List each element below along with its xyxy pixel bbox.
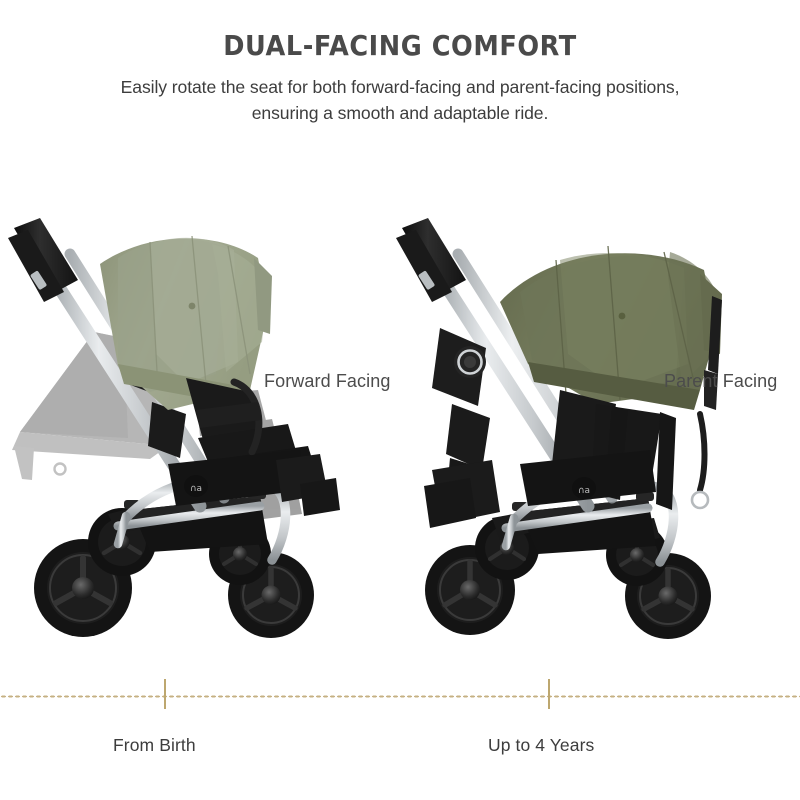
header: DUAL-FACING COMFORT Easily rotate the se… bbox=[0, 0, 800, 126]
brand-badge-left: ∩a bbox=[184, 475, 208, 497]
infographic-page: DUAL-FACING COMFORT Easily rotate the se… bbox=[0, 0, 800, 800]
timeline-tick-start bbox=[164, 679, 166, 709]
stroller-parent-facing: ∩a bbox=[396, 218, 722, 639]
brand-badge-right: ∩a bbox=[572, 477, 596, 499]
subtitle-line-1: Easily rotate the seat for both forward-… bbox=[121, 77, 680, 97]
page-title: DUAL-FACING COMFORT bbox=[28, 0, 772, 61]
svg-text:∩a: ∩a bbox=[578, 486, 590, 496]
canopy-left bbox=[100, 236, 272, 410]
label-parent-facing: Parent Facing bbox=[664, 371, 777, 392]
stroller-forward-facing: ∩a bbox=[8, 218, 340, 638]
page-subtitle: Easily rotate the seat for both forward-… bbox=[0, 61, 800, 126]
age-range-timeline bbox=[0, 688, 800, 704]
legrest-right bbox=[424, 460, 500, 528]
label-forward-facing: Forward Facing bbox=[264, 371, 390, 392]
svg-text:∩a: ∩a bbox=[190, 484, 202, 494]
subtitle-line-2: ensuring a smooth and adaptable ride. bbox=[0, 101, 800, 127]
rear-wheel-right bbox=[425, 512, 539, 635]
range-label-end: Up to 4 Years bbox=[488, 735, 594, 756]
timeline-dotted-line bbox=[0, 695, 800, 698]
timeline-tick-end bbox=[548, 679, 550, 709]
range-label-start: From Birth bbox=[113, 735, 196, 756]
stroller-illustration: ∩a bbox=[0, 214, 800, 654]
